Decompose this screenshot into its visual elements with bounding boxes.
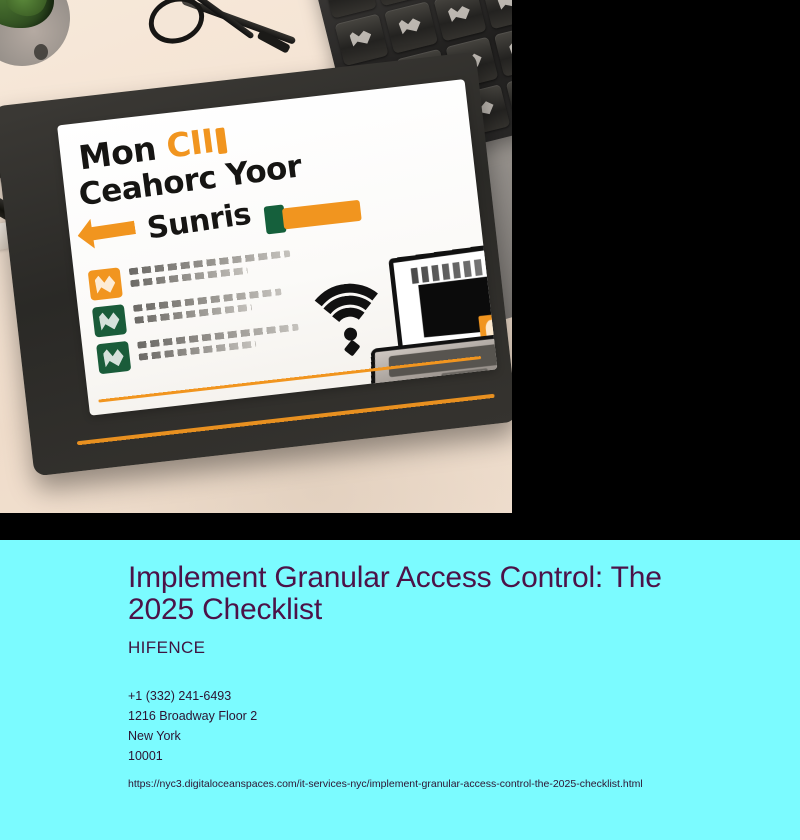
screen-dark-panel [418, 273, 497, 337]
keyboard-key [482, 0, 512, 29]
poster-headline-line3: Sunris [145, 197, 253, 247]
tablet-device: Mon CII Ceahorc Yoor Sunris [0, 52, 512, 477]
hero-image: Mon CII Ceahorc Yoor Sunris [0, 0, 512, 513]
keyboard-key [433, 0, 487, 42]
keyboard-key [335, 14, 389, 67]
contact-city: New York [128, 726, 760, 746]
pot-shadow-dot [34, 44, 48, 60]
orange-chip [282, 200, 362, 230]
contact-street: 1216 Broadway Floor 2 [128, 706, 760, 726]
letterbox-right [512, 0, 800, 540]
keyboard-key [384, 1, 438, 54]
laptop-illustration [358, 239, 497, 400]
lock-icon [96, 341, 131, 374]
document-icon [88, 267, 123, 300]
letterbox-bottom [0, 513, 512, 540]
brand-name: HIFENCE [128, 638, 760, 658]
source-url[interactable]: https://nyc3.digitaloceanspaces.com/it-s… [128, 778, 760, 790]
poster-headline-bar [215, 127, 227, 154]
left-arrow-icon [75, 212, 137, 250]
info-panel: Implement Granular Access Control: The 2… [0, 540, 800, 840]
poster-bullet-list [88, 247, 309, 381]
page-title: Implement Granular Access Control: The 2… [128, 562, 728, 626]
keyboard-key [494, 24, 512, 77]
infographic-poster: Mon CII Ceahorc Yoor Sunris [57, 79, 497, 416]
shield-icon [92, 304, 127, 337]
info-content: Implement Granular Access Control: The 2… [128, 562, 760, 790]
eyeglasses-lens [147, 0, 205, 48]
poster-headline-accent: CII [164, 121, 216, 166]
contact-phone: +1 (332) 241-6493 [128, 686, 760, 706]
contact-zip: 10001 [128, 746, 760, 766]
list-item-text [128, 247, 299, 292]
